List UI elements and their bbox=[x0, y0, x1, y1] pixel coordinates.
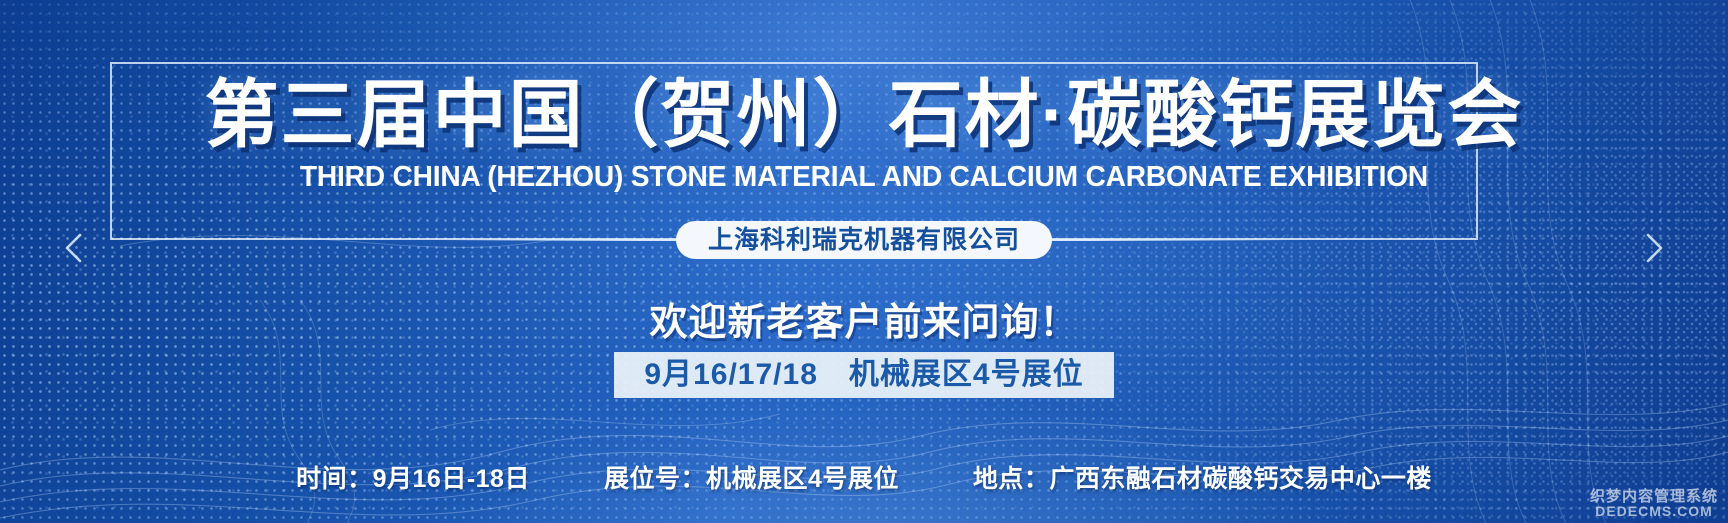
page-subtitle-english: THIRD CHINA (HEZHOU) STONE MATERIAL AND … bbox=[26, 160, 1702, 194]
carousel-prev-button[interactable] bbox=[58, 228, 92, 268]
carousel-next-button[interactable] bbox=[1636, 228, 1670, 268]
schedule-highlight-badge: 9月16/17/18 机械展区4号展位 bbox=[614, 352, 1113, 398]
event-info-time: 时间：9月16日-18日 bbox=[296, 462, 530, 496]
divider-left bbox=[440, 239, 676, 241]
welcome-message: 欢迎新老客户前来问询！ bbox=[0, 300, 1728, 346]
schedule-highlight-row: 9月16/17/18 机械展区4号展位 bbox=[0, 352, 1728, 398]
event-info-booth: 展位号：机械展区4号展位 bbox=[604, 462, 899, 496]
chevron-left-icon bbox=[58, 228, 92, 268]
divider-right bbox=[1052, 239, 1288, 241]
event-info-bar: 时间：9月16日-18日 展位号：机械展区4号展位 地点：广西东融石材碳酸钙交易… bbox=[0, 462, 1728, 496]
company-name-row: 上海科利瑞克机器有限公司 bbox=[0, 221, 1728, 259]
chevron-right-icon bbox=[1636, 228, 1670, 268]
company-name-badge: 上海科利瑞克机器有限公司 bbox=[676, 221, 1052, 259]
page-title: 第三届中国（贺州）石材·碳酸钙展览会 bbox=[0, 72, 1728, 158]
exhibition-banner: 第三届中国（贺州）石材·碳酸钙展览会 THIRD CHINA (HEZHOU) … bbox=[0, 0, 1728, 523]
event-info-location: 地点：广西东融石材碳酸钙交易中心一楼 bbox=[973, 462, 1432, 496]
